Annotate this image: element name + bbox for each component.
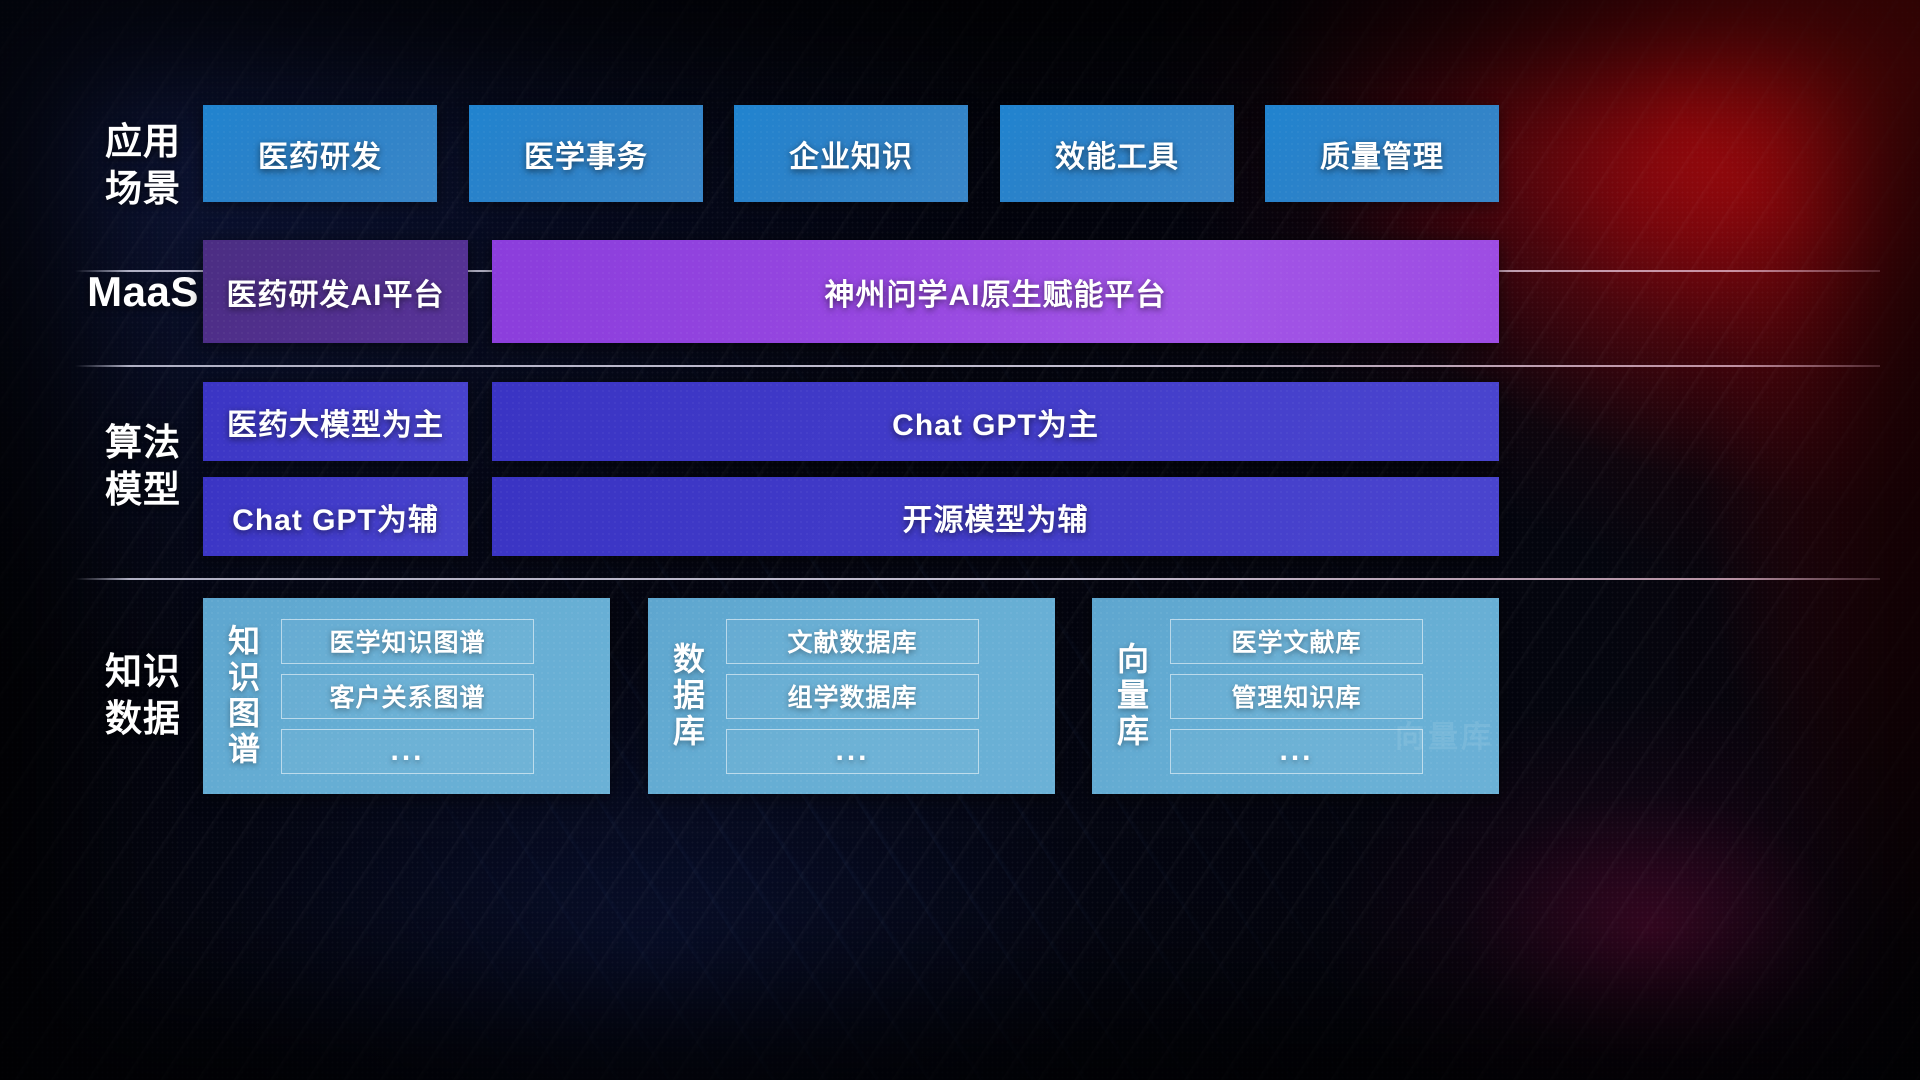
knowledge-group-vector-store[interactable]: 向量库 医学文献库 管理知识库 ...: [1092, 598, 1499, 794]
algo-card-chatgpt-secondary-label: Chat GPT为辅: [232, 495, 439, 539]
row-label-maas: MaaS: [68, 268, 218, 315]
knowledge-item-db-2[interactable]: ...: [726, 729, 979, 774]
knowledge-item-db-1[interactable]: 组学数据库: [726, 674, 979, 719]
knowledge-item-kg-1[interactable]: 客户关系图谱: [281, 674, 534, 719]
knowledge-item-kg-2[interactable]: ...: [281, 729, 534, 774]
algo-card-pharma-llm-primary[interactable]: 医药大模型为主: [203, 382, 468, 461]
maas-card-shenzhou-wenxue-platform-label: 神州问学AI原生赋能平台: [825, 270, 1167, 314]
app-scenario-card-0-label: 医药研发: [258, 132, 382, 176]
maas-card-shenzhou-wenxue-platform[interactable]: 神州问学AI原生赋能平台: [492, 240, 1499, 343]
row-label-application-scenarios: 应用 场景: [68, 118, 218, 212]
app-scenario-card-2[interactable]: 企业知识: [734, 105, 968, 202]
app-scenario-card-1[interactable]: 医学事务: [469, 105, 703, 202]
knowledge-item-vs-1[interactable]: 管理知识库: [1170, 674, 1423, 719]
architecture-diagram: 应用 场景 医药研发 医学事务 企业知识 效能工具 质量管理 MaaS 医药研发…: [0, 0, 1920, 1080]
knowledge-group-knowledge-graph[interactable]: 知识图谱 医学知识图谱 客户关系图谱 ...: [203, 598, 610, 794]
maas-card-pharma-ai-platform[interactable]: 医药研发AI平台: [203, 240, 468, 343]
app-scenario-card-3[interactable]: 效能工具: [1000, 105, 1234, 202]
knowledge-item-kg-0[interactable]: 医学知识图谱: [281, 619, 534, 664]
knowledge-item-db-0[interactable]: 文献数据库: [726, 619, 979, 664]
algo-card-opensource-secondary-label: 开源模型为辅: [903, 495, 1089, 539]
knowledge-group-vector-store-title: 向量库: [1092, 598, 1170, 794]
knowledge-group-knowledge-graph-title: 知识图谱: [203, 598, 281, 794]
row-label-knowledge-data: 知识 数据: [68, 648, 218, 742]
divider-2: [75, 365, 1880, 367]
app-scenario-card-1-label: 医学事务: [524, 132, 648, 176]
app-scenario-card-2-label: 企业知识: [789, 132, 913, 176]
app-scenario-card-3-label: 效能工具: [1055, 132, 1179, 176]
knowledge-group-database[interactable]: 数据库 文献数据库 组学数据库 ...: [648, 598, 1055, 794]
maas-card-pharma-ai-platform-label: 医药研发AI平台: [227, 270, 445, 314]
divider-3: [75, 578, 1880, 580]
knowledge-group-database-title: 数据库: [648, 598, 726, 794]
algo-card-chatgpt-primary-label: Chat GPT为主: [892, 400, 1099, 444]
app-scenario-card-4-label: 质量管理: [1320, 132, 1444, 176]
app-scenario-card-4[interactable]: 质量管理: [1265, 105, 1499, 202]
app-scenario-card-0[interactable]: 医药研发: [203, 105, 437, 202]
algo-card-chatgpt-secondary[interactable]: Chat GPT为辅: [203, 477, 468, 556]
knowledge-item-vs-0[interactable]: 医学文献库: [1170, 619, 1423, 664]
row-label-algorithm-models: 算法 模型: [68, 419, 218, 513]
algo-card-chatgpt-primary[interactable]: Chat GPT为主: [492, 382, 1499, 461]
algo-card-pharma-llm-primary-label: 医药大模型为主: [227, 400, 444, 444]
algo-card-opensource-secondary[interactable]: 开源模型为辅: [492, 477, 1499, 556]
knowledge-item-vs-2[interactable]: ...: [1170, 729, 1423, 774]
